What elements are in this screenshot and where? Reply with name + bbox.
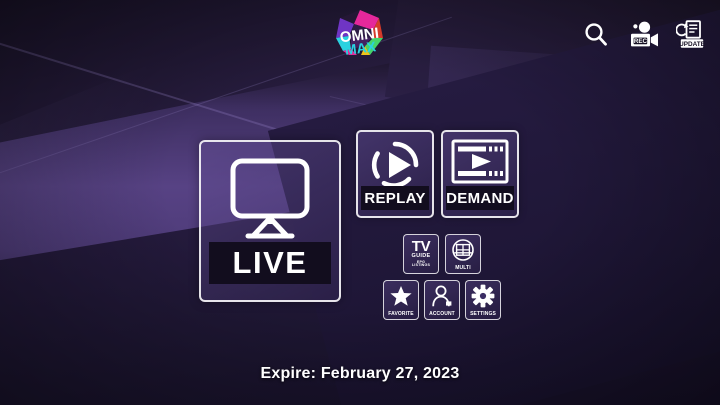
tile-settings-label-bar: SETTINGS [466,310,500,319]
header: OMNI MAX [0,0,720,76]
tile-multi-label-bar: MULTI [446,264,480,273]
tv-guide-icon: TV GUIDE EPG LISTINGS [404,235,438,268]
film-strip-play-icon [443,139,517,193]
user-icon [425,281,459,310]
tile-settings[interactable]: SETTINGS [465,280,501,320]
tile-demand-label-bar: DEMAND [446,186,514,210]
gear-icon [466,281,500,310]
tile-account[interactable]: ACCOUNT [424,280,460,320]
tile-demand-label: DEMAND [446,190,514,207]
tile-replay[interactable]: REPLAY [356,130,434,218]
tv-guide-text-tv: TV [412,239,431,254]
tile-replay-label-bar: REPLAY [361,186,429,210]
tile-favorite[interactable]: FAVORITE [383,280,419,320]
header-icon-group: REC UPDATE [578,20,710,60]
record-icon-label: REC [634,38,648,45]
tile-tv-guide-label-bar [404,268,438,273]
tile-settings-label: SETTINGS [470,312,496,317]
tv-monitor-icon [201,156,339,244]
tile-live-label: LIVE [233,245,308,281]
record-button[interactable]: REC [626,20,662,60]
tile-multi[interactable]: MULTI [445,234,481,274]
replay-circle-play-icon [358,139,432,191]
tile-demand[interactable]: DEMAND [441,130,519,218]
update-button[interactable]: UPDATE [674,20,710,60]
search-icon [581,20,611,50]
tv-guide-text-guide: GUIDE [412,254,431,260]
star-icon [384,281,418,310]
multi-grid-icon [446,235,480,264]
search-button[interactable] [578,20,614,60]
app-root: OMNI MAX [0,0,720,405]
update-icon-label: UPDATE [679,41,706,48]
record-icon: REC [627,20,661,50]
tile-replay-label: REPLAY [364,190,425,207]
tile-tv-guide[interactable]: TV GUIDE EPG LISTINGS [403,234,439,274]
app-logo[interactable]: OMNI MAX [321,8,399,70]
tile-multi-label: MULTI [455,266,470,271]
main-menu: LIVE REPLAY [0,76,720,344]
tile-favorite-label: FAVORITE [388,312,413,317]
expire-text: Expire: February 27, 2023 [261,365,460,383]
footer: Expire: February 27, 2023 [0,343,720,405]
tile-live[interactable]: LIVE [199,140,341,302]
tile-account-label: ACCOUNT [429,312,455,317]
tile-account-label-bar: ACCOUNT [425,310,459,319]
update-icon: UPDATE [676,20,708,50]
tile-live-label-bar: LIVE [209,242,331,284]
tile-favorite-label-bar: FAVORITE [384,310,418,319]
logo-text-max: MAX [344,38,377,58]
